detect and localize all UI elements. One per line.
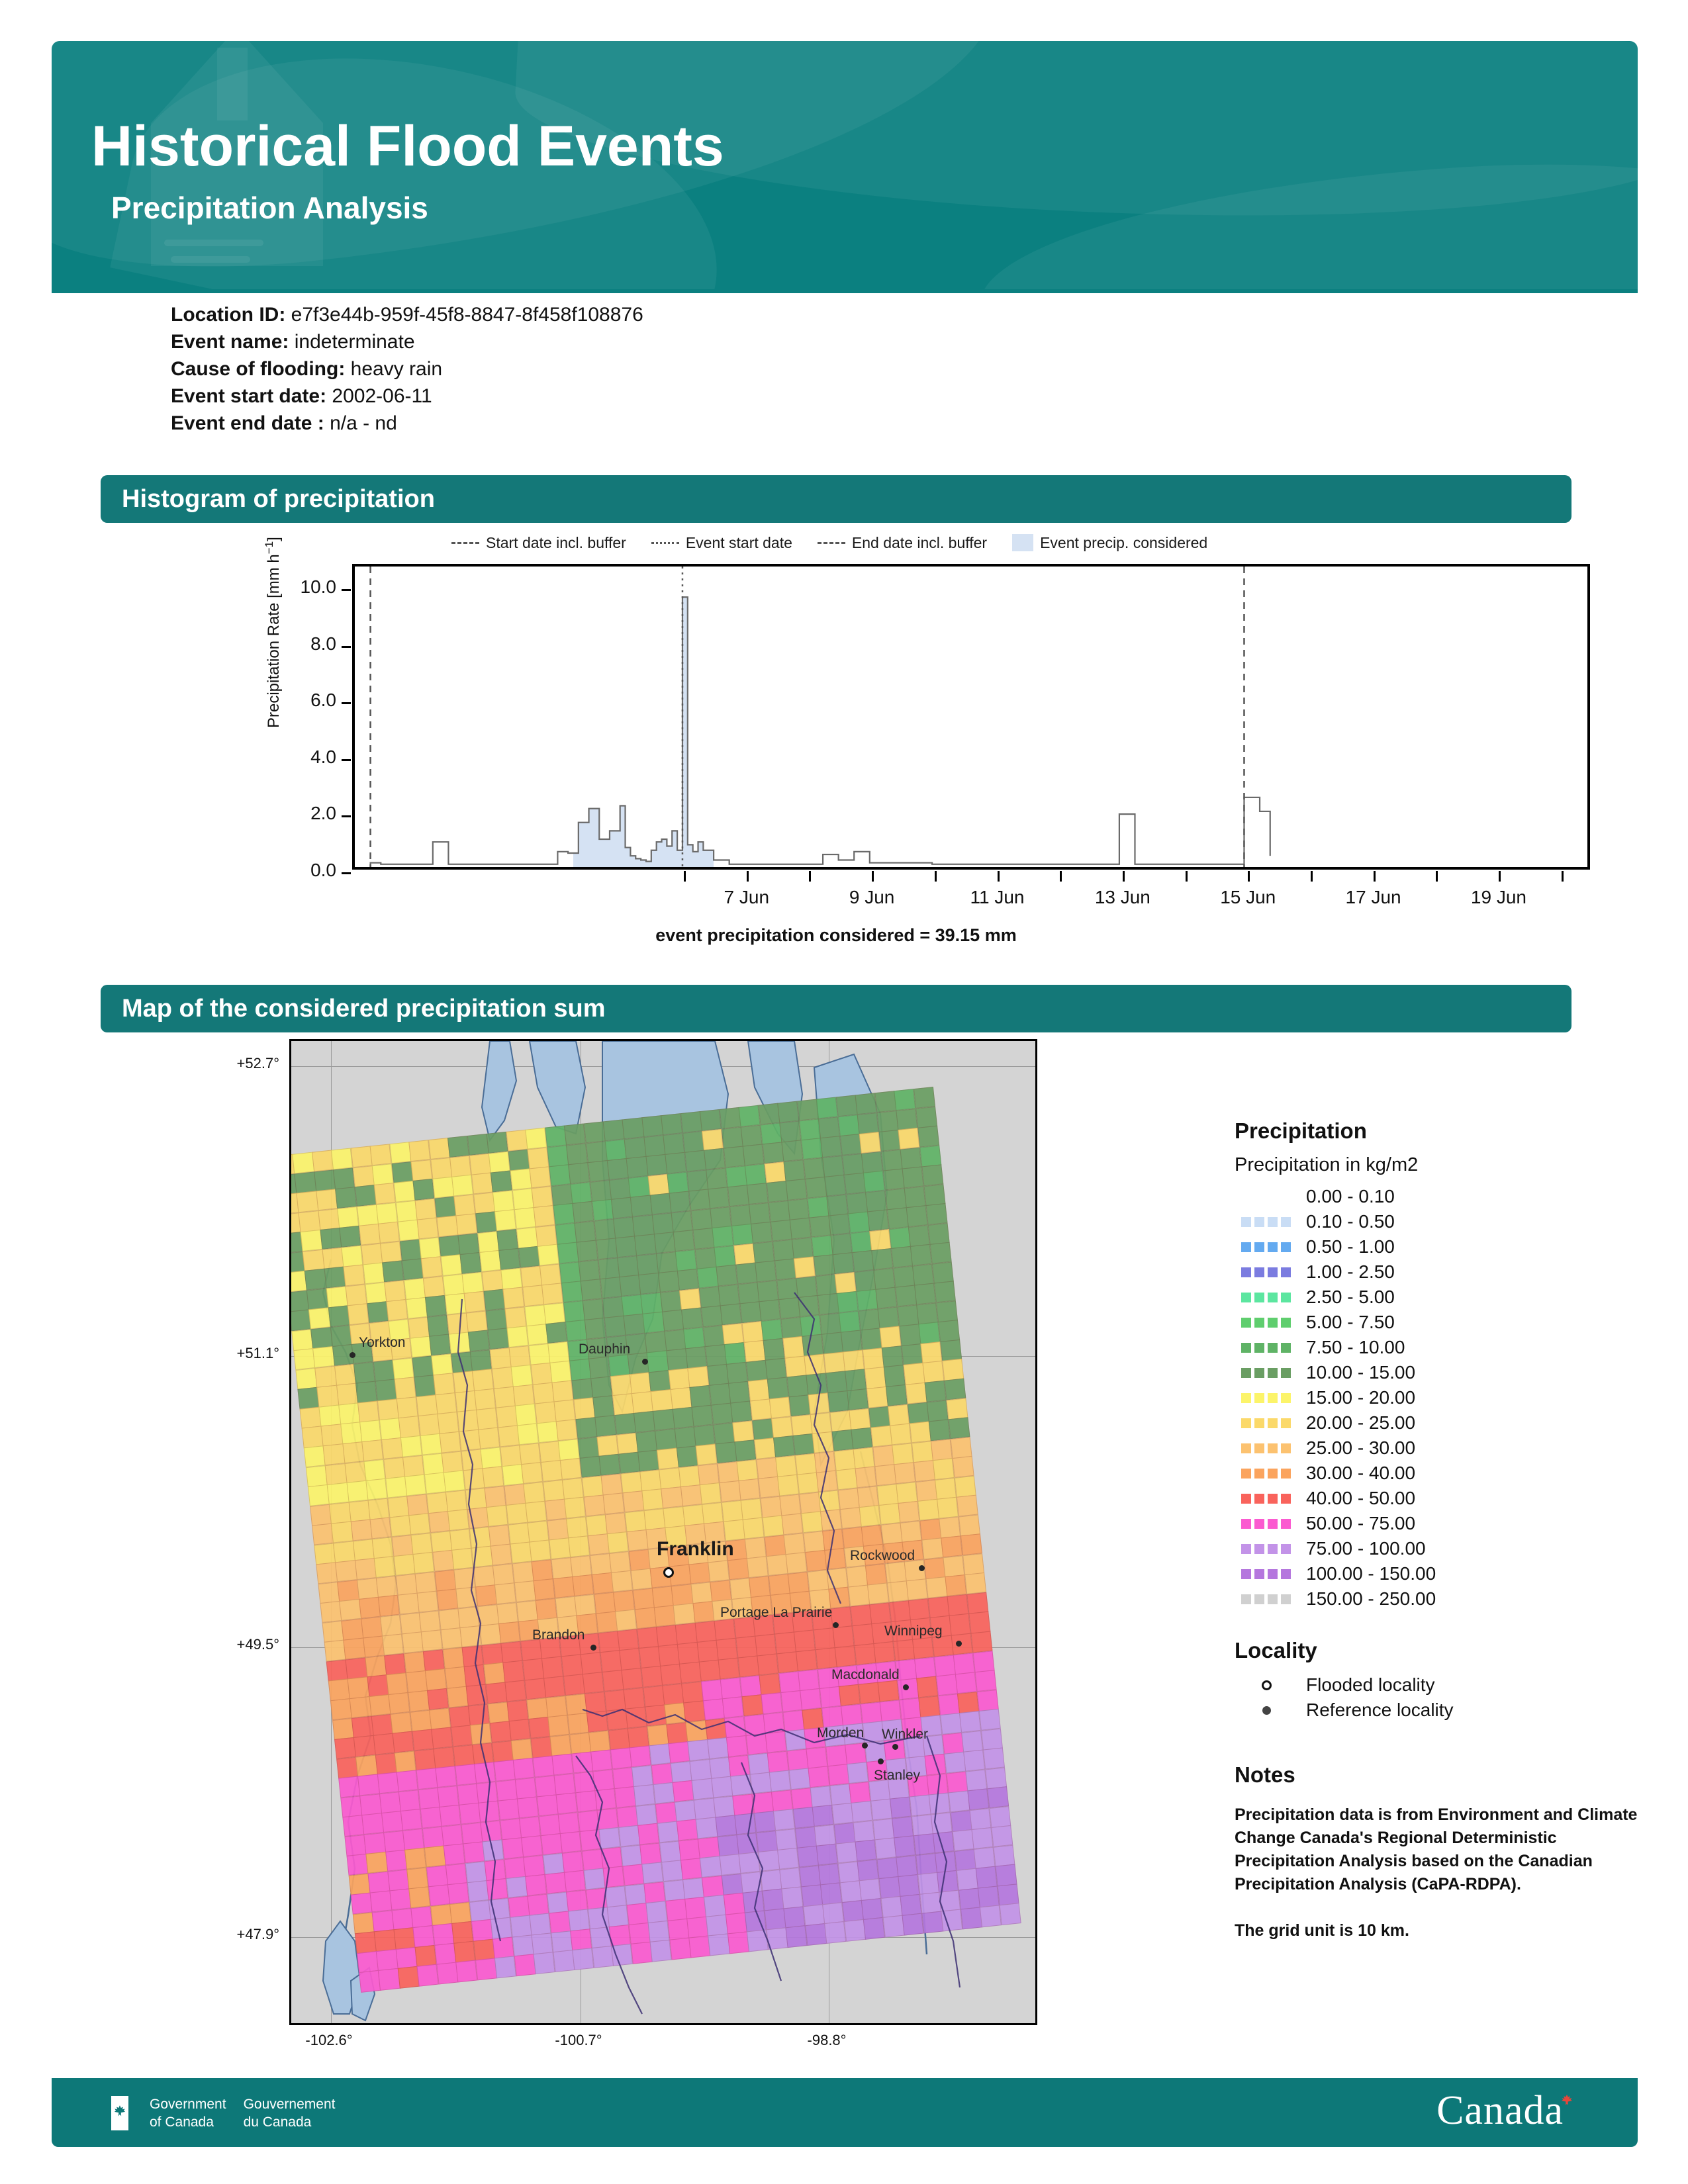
flag-right-bar	[128, 2096, 138, 2130]
legend-class-label: 1.00 - 2.50	[1306, 1261, 1395, 1283]
legend-class-row: 0.50 - 1.00	[1235, 1234, 1645, 1259]
map-city-label: Winkler	[882, 1727, 928, 1743]
map-latitude-label: +51.1°	[193, 1345, 279, 1362]
goc-fr-line1: Gouvernement	[244, 2095, 336, 2113]
page-footer: Government of Canada Gouvernement du Can…	[52, 2078, 1638, 2147]
map-latitude-label: +47.9°	[193, 1926, 279, 1943]
histogram-plot-area	[352, 564, 1590, 870]
legend-color-swatch-icon	[1241, 1242, 1291, 1252]
section-title-map: Map of the considered precipitation sum	[122, 995, 606, 1023]
goc-en-line1: Government	[150, 2095, 226, 2113]
map-city-label: Yorkton	[359, 1335, 405, 1351]
section-header-map: Map of the considered precipitation sum	[101, 985, 1571, 1032]
x-axis-tick-label: 17 Jun	[1321, 887, 1427, 908]
meta-row-start-date: Event start date: 2002-06-11	[171, 383, 1230, 410]
legend-title: Precipitation	[1235, 1118, 1645, 1144]
legend-class-row: 1.00 - 2.50	[1235, 1259, 1645, 1285]
event-metadata: Location ID: e7f3e44b-959f-45f8-8847-8f4…	[171, 301, 1230, 437]
map-city-label: Macdonald	[831, 1667, 900, 1683]
legend-class-row: 15.00 - 20.00	[1235, 1385, 1645, 1410]
legend-color-swatch-icon	[1241, 1544, 1291, 1554]
flooded-locality-icon	[1262, 1680, 1272, 1690]
precipitation-map[interactable]: YorktonDauphinFranklinRockwoodPortage La…	[289, 1039, 1037, 2025]
x-axis-tick-mark	[1311, 871, 1313, 882]
legend-color-swatch-icon	[1241, 1469, 1291, 1479]
y-axis-tick-mark	[342, 815, 351, 817]
flag-left-bar	[102, 2096, 111, 2130]
y-axis-tick-mark	[342, 589, 351, 591]
legend-color-swatch-icon	[1241, 1343, 1291, 1353]
y-axis-tick-label: 4.0	[263, 747, 336, 768]
legend-class-label: 5.00 - 7.50	[1306, 1312, 1395, 1333]
legend-class-row: 5.00 - 7.50	[1235, 1310, 1645, 1335]
x-axis-tick-mark	[1374, 871, 1376, 882]
map-city-label: Dauphin	[579, 1342, 630, 1357]
legend-subtitle: Precipitation in kg/m2	[1235, 1154, 1645, 1176]
report-page: Historical Flood Events Precipitation An…	[0, 0, 1688, 2184]
reference-locality-marker-icon	[919, 1565, 925, 1571]
legend-class-list: 0.00 - 0.100.10 - 0.500.50 - 1.001.00 - …	[1235, 1184, 1645, 1612]
legend-class-label: 30.00 - 40.00	[1306, 1463, 1415, 1484]
histogram-legend-item: Event start date	[651, 534, 792, 552]
location-id-label: Location ID:	[171, 304, 285, 326]
histogram-legend: Start date incl. bufferEvent start dateE…	[451, 529, 1444, 556]
legend-color-swatch-icon	[1241, 1443, 1291, 1453]
locality-legend-label: Reference locality	[1306, 1700, 1454, 1721]
legend-class-row: 0.10 - 0.50	[1235, 1209, 1645, 1234]
map-latitude-label: +52.7°	[193, 1055, 279, 1072]
event-name-label: Event name:	[171, 331, 289, 353]
legend-class-label: 7.50 - 10.00	[1306, 1337, 1405, 1358]
meta-row-end-date: Event end date : n/a - nd	[171, 410, 1230, 437]
precipitation-rate-line	[371, 597, 1270, 867]
x-axis-tick-mark	[872, 871, 874, 882]
event-name-value: indeterminate	[295, 331, 415, 353]
legend-color-swatch-icon	[1241, 1217, 1291, 1227]
goc-english: Government of Canada	[150, 2095, 226, 2131]
legend-class-label: 15.00 - 20.00	[1306, 1387, 1415, 1408]
legend-class-row: 7.50 - 10.00	[1235, 1335, 1645, 1360]
map-longitude-label: -102.6°	[276, 2032, 382, 2049]
y-axis-tick-mark	[342, 702, 351, 704]
page-title: Historical Flood Events	[91, 114, 724, 179]
legend-class-label: 10.00 - 15.00	[1306, 1362, 1415, 1383]
y-axis-tick-mark	[342, 872, 351, 874]
legend-class-label: 50.00 - 75.00	[1306, 1513, 1415, 1534]
x-axis-tick-mark	[684, 871, 686, 882]
map-boundaries-layer	[291, 1041, 1037, 2025]
maple-leaf-icon	[111, 2105, 128, 2122]
x-axis-tick-mark	[1060, 871, 1062, 882]
legend-class-row: 100.00 - 150.00	[1235, 1561, 1645, 1586]
x-axis-tick-mark	[809, 871, 811, 882]
x-axis-tick-label: 11 Jun	[945, 887, 1051, 908]
locality-legend-row: Flooded locality	[1235, 1672, 1645, 1698]
legend-class-label: 2.50 - 5.00	[1306, 1287, 1395, 1308]
legend-class-row: 10.00 - 15.00	[1235, 1360, 1645, 1385]
meta-row-location-id: Location ID: e7f3e44b-959f-45f8-8847-8f4…	[171, 301, 1230, 328]
legend-class-label: 25.00 - 30.00	[1306, 1437, 1415, 1459]
legend-class-row: 50.00 - 75.00	[1235, 1511, 1645, 1536]
map-legend-panel: Precipitation Precipitation in kg/m2 0.0…	[1235, 1118, 1645, 1940]
dotted-line-icon	[651, 542, 679, 544]
notes-paragraph-1: Precipitation data is from Environment a…	[1235, 1803, 1645, 1896]
canadian-flag-icon	[102, 2096, 138, 2130]
precipitation-histogram: Start date incl. bufferEvent start dateE…	[101, 529, 1571, 986]
legend-color-swatch-icon	[1241, 1494, 1291, 1504]
histogram-caption: event precipitation considered = 39.15 m…	[101, 925, 1571, 946]
reference-locality-marker-icon	[878, 1758, 884, 1764]
legend-color-swatch-icon	[1241, 1393, 1291, 1403]
goc-fr-line2: du Canada	[244, 2113, 336, 2131]
cause-value: heavy rain	[351, 358, 442, 380]
x-axis-tick-mark	[935, 871, 937, 882]
map-city-label: Brandon	[532, 1627, 585, 1643]
legend-class-row: 2.50 - 5.00	[1235, 1285, 1645, 1310]
legend-color-swatch-icon	[1241, 1368, 1291, 1378]
x-axis-tick-mark	[747, 871, 749, 882]
histogram-legend-label: Start date incl. buffer	[486, 534, 626, 552]
goc-french: Gouvernement du Canada	[244, 2095, 336, 2131]
legend-class-row: 0.00 - 0.10	[1235, 1184, 1645, 1209]
water-ripple-icon	[164, 240, 263, 246]
map-city-label: Rockwood	[850, 1548, 915, 1564]
legend-class-row: 75.00 - 100.00	[1235, 1536, 1645, 1561]
x-axis-tick-label: 7 Jun	[694, 887, 800, 908]
reference-locality-marker-icon	[350, 1352, 355, 1358]
legend-swatch-icon	[1012, 534, 1033, 551]
histogram-legend-label: End date incl. buffer	[852, 534, 987, 552]
canada-wordmark-flag-icon	[1560, 2095, 1574, 2109]
x-axis-tick-mark	[1248, 871, 1250, 882]
x-axis-tick-mark	[1436, 871, 1438, 882]
map-longitude-label: -100.7°	[526, 2032, 632, 2049]
map-city-label: Stanley	[874, 1768, 920, 1784]
locality-legend-label: Flooded locality	[1306, 1674, 1435, 1696]
x-axis-tick-mark	[1123, 871, 1125, 882]
legend-class-row: 40.00 - 50.00	[1235, 1486, 1645, 1511]
map-longitude-label: -98.8°	[774, 2032, 880, 2049]
legend-class-label: 100.00 - 150.00	[1306, 1563, 1436, 1584]
notes-title: Notes	[1235, 1762, 1645, 1788]
legend-class-row: 20.00 - 25.00	[1235, 1410, 1645, 1435]
legend-color-swatch-icon	[1241, 1594, 1291, 1604]
legend-class-label: 75.00 - 100.00	[1306, 1538, 1426, 1559]
x-axis-tick-mark	[1186, 871, 1188, 882]
x-axis-tick-mark	[1499, 871, 1501, 882]
start-date-value: 2002-06-11	[332, 385, 432, 407]
legend-class-label: 0.50 - 1.00	[1306, 1236, 1395, 1257]
legend-color-swatch-icon	[1241, 1318, 1291, 1328]
flooded-locality-marker-icon	[663, 1567, 674, 1578]
histogram-legend-item: Start date incl. buffer	[451, 534, 626, 552]
end-date-value: n/a - nd	[330, 412, 397, 434]
page-subtitle: Precipitation Analysis	[111, 190, 428, 226]
notes-paragraph-2: The grid unit is 10 km.	[1235, 1921, 1645, 1940]
locality-marker-cell	[1241, 1706, 1291, 1715]
goc-wordmark-text: Government of Canada Gouvernement du Can…	[150, 2095, 335, 2131]
map-city-label: Portage La Prairie	[720, 1605, 832, 1621]
meta-row-event-name: Event name: indeterminate	[171, 328, 1230, 355]
legend-class-row: 25.00 - 30.00	[1235, 1435, 1645, 1461]
canada-wordmark: Canada	[1436, 2087, 1574, 2134]
meta-row-cause: Cause of flooding: heavy rain	[171, 355, 1230, 383]
cause-label: Cause of flooding:	[171, 358, 345, 380]
legend-color-swatch-icon	[1241, 1418, 1291, 1428]
legend-class-row: 30.00 - 40.00	[1235, 1461, 1645, 1486]
map-city-label: Morden	[817, 1725, 864, 1741]
x-axis-tick-label: 13 Jun	[1070, 887, 1176, 908]
locality-marker-cell	[1241, 1680, 1291, 1690]
histogram-legend-label: Event precip. considered	[1040, 534, 1207, 552]
dashed-line-icon	[451, 542, 479, 544]
legend-class-label: 0.00 - 0.10	[1306, 1186, 1395, 1207]
end-date-label: Event end date :	[171, 412, 324, 434]
legend-class-label: 0.10 - 0.50	[1306, 1211, 1395, 1232]
government-of-canada-signature: Government of Canada Gouvernement du Can…	[102, 2095, 335, 2131]
y-axis-tick-label: 2.0	[263, 803, 336, 824]
x-axis-tick-label: 15 Jun	[1195, 887, 1301, 908]
locality-legend-row: Reference locality	[1235, 1698, 1645, 1723]
map-latitude-label: +49.5°	[193, 1636, 279, 1653]
reference-locality-marker-icon	[903, 1684, 909, 1690]
map-city-label: Winnipeg	[884, 1623, 943, 1639]
y-axis-tick-label: 10.0	[263, 576, 336, 598]
reference-locality-marker-icon	[956, 1641, 962, 1647]
histogram-legend-label: Event start date	[686, 534, 792, 552]
reference-locality-marker-icon	[590, 1645, 596, 1651]
legend-color-swatch-icon	[1241, 1519, 1291, 1529]
histogram-svg	[355, 567, 1587, 867]
legend-color-swatch-icon	[1241, 1192, 1291, 1202]
reference-locality-marker-icon	[862, 1743, 868, 1749]
x-axis-tick-mark	[998, 871, 1000, 882]
water-ripple-icon	[171, 256, 250, 263]
dashed-line-icon	[818, 542, 845, 544]
locality-title: Locality	[1235, 1638, 1645, 1663]
legend-class-label: 20.00 - 25.00	[1306, 1412, 1415, 1433]
location-id-value: e7f3e44b-959f-45f8-8847-8f458f108876	[291, 304, 643, 326]
legend-color-swatch-icon	[1241, 1267, 1291, 1277]
banner-rule	[52, 289, 1638, 293]
y-axis-tick-label: 0.0	[263, 860, 336, 881]
reference-locality-marker-icon	[833, 1622, 839, 1628]
page-header-banner: Historical Flood Events Precipitation An…	[52, 41, 1638, 289]
canada-wordmark-text: Canada	[1436, 2088, 1564, 2133]
goc-en-line2: of Canada	[150, 2113, 226, 2131]
map-city-label: Franklin	[657, 1538, 734, 1561]
reference-locality-marker-icon	[642, 1359, 648, 1365]
locality-legend-list: Flooded localityReference locality	[1235, 1672, 1645, 1723]
legend-class-label: 40.00 - 50.00	[1306, 1488, 1415, 1509]
section-header-histogram: Histogram of precipitation	[101, 475, 1571, 523]
chimney-icon	[217, 48, 248, 120]
y-axis-tick-label: 6.0	[263, 690, 336, 711]
y-axis-tick-label: 8.0	[263, 633, 336, 655]
x-axis-tick-label: 9 Jun	[819, 887, 925, 908]
start-date-label: Event start date:	[171, 385, 326, 407]
x-axis-tick-label: 19 Jun	[1446, 887, 1552, 908]
x-axis-tick-mark	[1562, 871, 1564, 882]
section-title-histogram: Histogram of precipitation	[122, 485, 435, 514]
histogram-legend-item: End date incl. buffer	[818, 534, 987, 552]
legend-color-swatch-icon	[1241, 1569, 1291, 1579]
y-axis-tick-mark	[342, 646, 351, 648]
legend-class-label: 150.00 - 250.00	[1306, 1588, 1436, 1610]
histogram-legend-item: Event precip. considered	[1012, 534, 1207, 552]
legend-class-row: 150.00 - 250.00	[1235, 1586, 1645, 1612]
legend-color-swatch-icon	[1241, 1293, 1291, 1302]
reference-locality-icon	[1262, 1706, 1271, 1715]
y-axis-tick-mark	[342, 759, 351, 761]
reference-locality-marker-icon	[892, 1744, 898, 1750]
